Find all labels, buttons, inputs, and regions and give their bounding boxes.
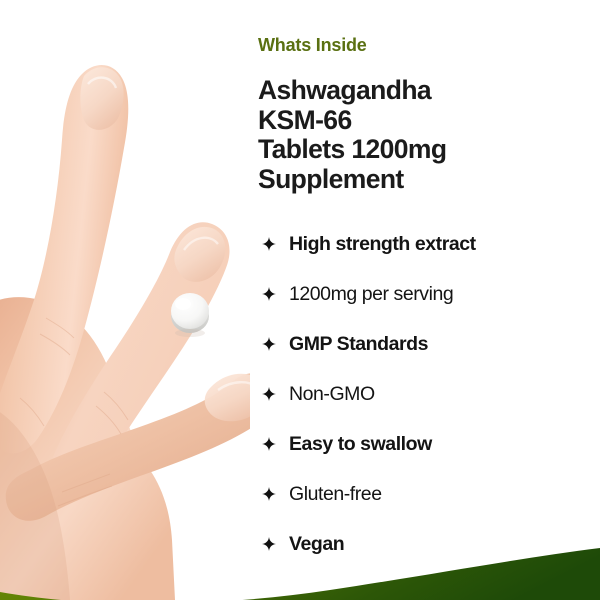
list-item: Gluten-free bbox=[262, 469, 600, 519]
sparkle-icon bbox=[262, 537, 276, 551]
sparkle-icon bbox=[262, 487, 276, 501]
sparkle-icon bbox=[262, 237, 276, 251]
feature-label: Easy to swallow bbox=[289, 433, 432, 455]
headline-line-2: KSM-66 bbox=[258, 106, 578, 136]
white-round-tablet bbox=[171, 293, 209, 333]
feature-label: Gluten-free bbox=[289, 483, 382, 505]
sparkle-icon bbox=[262, 437, 276, 451]
sparkle-icon bbox=[262, 387, 276, 401]
sparkle-icon bbox=[262, 337, 276, 351]
sparkle-icon bbox=[262, 287, 276, 301]
list-item: High strength extract bbox=[262, 219, 600, 269]
feature-label: High strength extract bbox=[289, 233, 476, 255]
eyebrow-whats-inside: Whats Inside bbox=[258, 36, 367, 56]
product-infographic-canvas: Whats Inside Ashwagandha KSM-66 Tablets … bbox=[0, 0, 600, 600]
feature-label: GMP Standards bbox=[289, 333, 428, 355]
list-item: 1200mg per serving bbox=[262, 269, 600, 319]
hand-holding-tablet-photo bbox=[0, 0, 250, 600]
headline-line-1: Ashwagandha bbox=[258, 76, 578, 106]
list-item: Non-GMO bbox=[262, 369, 600, 419]
headline-line-4: Supplement bbox=[258, 165, 578, 195]
page-title: Ashwagandha KSM-66 Tablets 1200mg Supple… bbox=[258, 76, 578, 194]
feature-list: High strength extract 1200mg per serving… bbox=[262, 219, 600, 569]
feature-label: Vegan bbox=[289, 533, 344, 555]
feature-label: 1200mg per serving bbox=[289, 283, 453, 305]
list-item: Easy to swallow bbox=[262, 419, 600, 469]
headline-line-3: Tablets 1200mg bbox=[258, 135, 578, 165]
feature-label: Non-GMO bbox=[289, 383, 375, 405]
content-column: Whats Inside Ashwagandha KSM-66 Tablets … bbox=[258, 0, 600, 600]
list-item: Vegan bbox=[262, 519, 600, 569]
list-item: GMP Standards bbox=[262, 319, 600, 369]
